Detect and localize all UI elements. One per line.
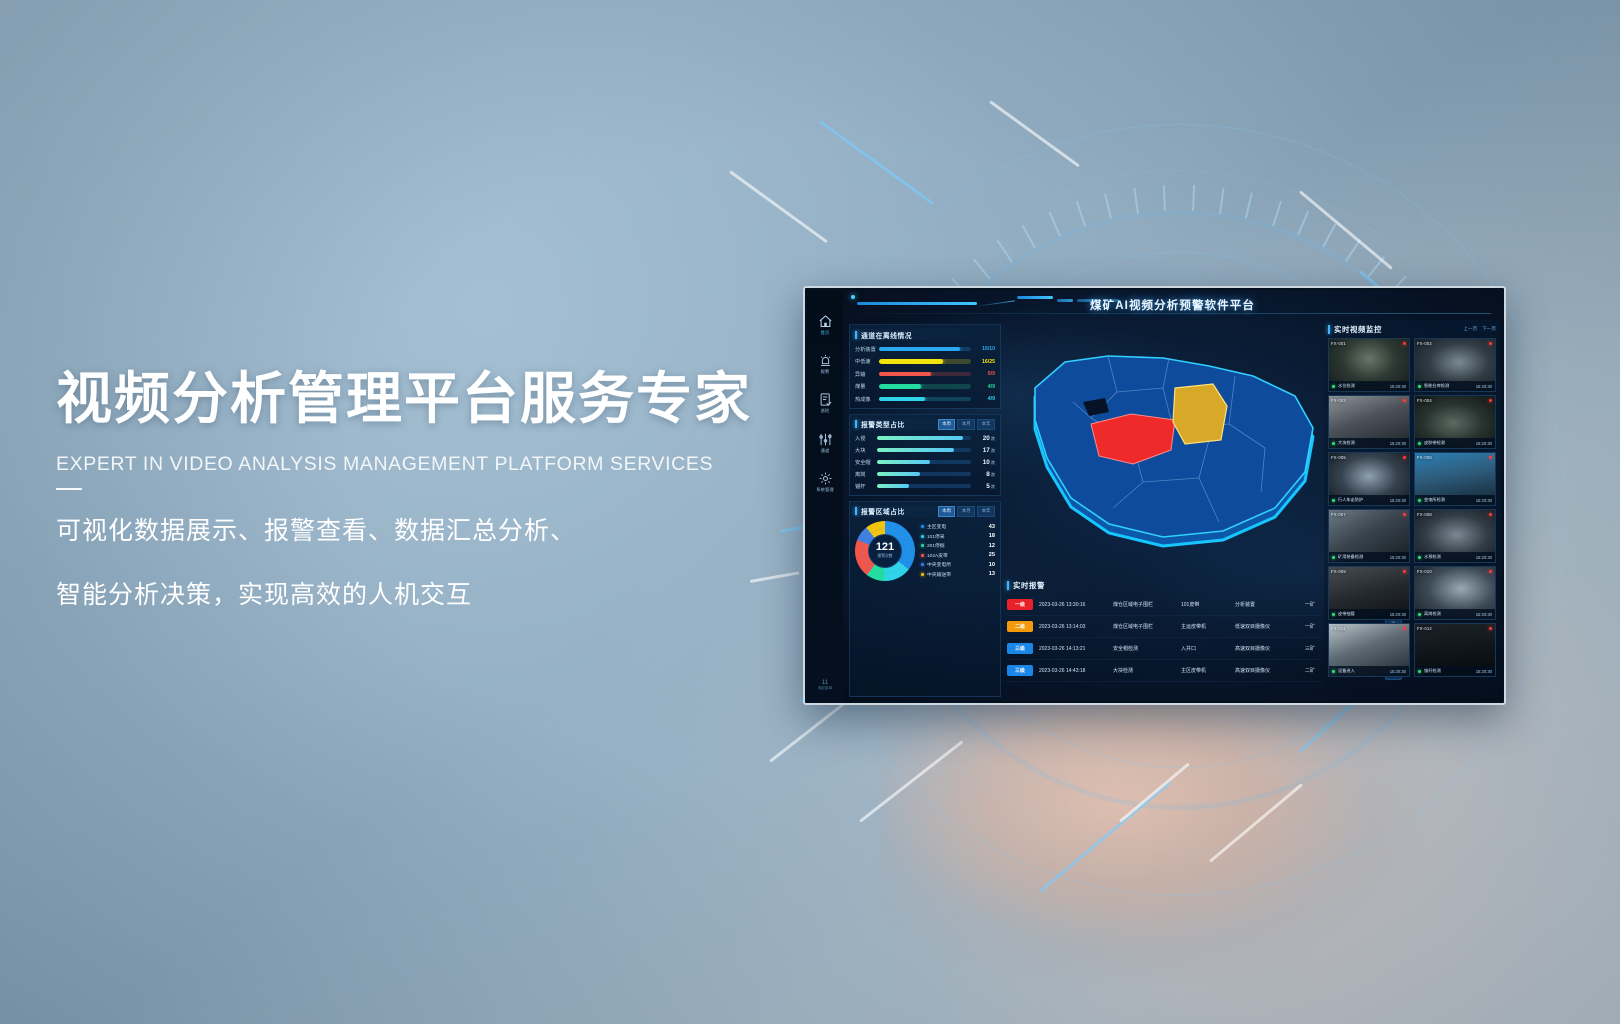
- camera-timestamp: 15:20:30: [1476, 498, 1492, 503]
- legend-color-dot: [921, 563, 924, 566]
- camera-id: FX-006: [1417, 455, 1432, 460]
- dashboard-sidebar: 首页报警巡检通道系统管理11收起菜单: [807, 290, 843, 701]
- video-tile[interactable]: FX-007矿用装备检测15:20:30: [1328, 509, 1410, 563]
- recording-indicator-icon: [1403, 456, 1406, 459]
- alarm-type-tab-本周[interactable]: 本周: [938, 419, 956, 430]
- recording-indicator-icon: [1403, 513, 1406, 516]
- camera-name: 变电所检测: [1424, 497, 1476, 503]
- video-tile[interactable]: FX-001水位检测15:20:30: [1328, 338, 1410, 392]
- alarm-area-tab-本月[interactable]: 本月: [957, 506, 975, 517]
- camera-timestamp: 15:20:30: [1476, 441, 1492, 446]
- sidebar-item-label: 报警: [821, 370, 830, 374]
- video-tile[interactable]: FX-004皮肤带检测15:20:30: [1414, 395, 1496, 449]
- channel-row: 异输5/9: [855, 371, 995, 378]
- table-row[interactable]: 三级2023-03-26 14:43:18大块检测主区皮带机高速双目摄像仪二矿未…: [1007, 660, 1322, 682]
- online-status-icon: [1332, 670, 1335, 673]
- alarm-type: 煤仓区域电子围栏: [1113, 623, 1181, 630]
- accent-bar: [855, 331, 857, 339]
- alarm-area-tab-本年[interactable]: 本年: [977, 506, 995, 517]
- alarm-type-card: 报警类型占比 本周本月本年 入侵20次大块17次安全帽10次离岗8次锚杆5次: [849, 414, 1001, 496]
- alarm-type-fill: [877, 472, 920, 476]
- alarm-type-unit: 次: [991, 484, 995, 489]
- channel-row: 热成像4/9: [855, 396, 995, 403]
- alarm-level-badge: 三级: [1007, 665, 1033, 676]
- map-region-yellow[interactable]: [1173, 384, 1227, 444]
- online-status-icon: [1418, 385, 1421, 388]
- video-monitor-panel: 实时视频监控 上一页 下一页 FX-001水位检测15:20:30FX-002智…: [1324, 320, 1500, 697]
- camera-id: FX-009: [1331, 569, 1346, 574]
- legend-color-dot: [921, 554, 924, 557]
- channel-row-value: 16/25: [971, 359, 995, 365]
- online-status-icon: [1332, 442, 1335, 445]
- online-status-icon: [1332, 499, 1335, 502]
- camera-name: 皮带抽管: [1338, 611, 1390, 617]
- channel-row-value: 10/10: [971, 346, 995, 352]
- legend-value: 43: [989, 524, 995, 530]
- camera-id: FX-008: [1417, 512, 1432, 517]
- header-bar-c: [1057, 299, 1073, 302]
- donut-legend-item: 主区变电43: [921, 523, 995, 530]
- sidebar-item-label: 系统管理: [816, 488, 834, 492]
- donut-center-label: 报警次数: [877, 554, 892, 559]
- alarm-type-value: 20次: [971, 435, 995, 442]
- alarm-type-track: [877, 436, 971, 440]
- legend-color-dot: [921, 544, 924, 547]
- alarm-area-card: 报警区域占比 本周本月本年 121 报警次数 主区变电43101停采18201停…: [849, 501, 1001, 698]
- alarm-location: 主区皮带机: [1181, 667, 1235, 674]
- video-pagination: 上一页 下一页: [1463, 326, 1496, 332]
- sidebar-item-label: 首页: [821, 331, 830, 335]
- alarm-type-track: [877, 472, 971, 476]
- camera-id: FX-005: [1331, 455, 1346, 460]
- alarm-type-track: [877, 484, 971, 488]
- alarm-type-rows: 入侵20次大块17次安全帽10次离岗8次锚杆5次: [855, 435, 995, 490]
- alarm-type-unit: 次: [991, 460, 995, 465]
- alarm-type-value: 10次: [971, 459, 995, 466]
- next-page-button[interactable]: 下一页: [1482, 326, 1496, 332]
- alarm-area-donut-chart: 121 报警次数: [855, 521, 915, 581]
- online-status-icon: [1418, 670, 1421, 673]
- camera-timestamp: 15:20:30: [1390, 669, 1406, 674]
- alarm-type-card-title: 报警类型占比: [861, 419, 905, 429]
- channel-row-fill: [879, 359, 943, 364]
- alarm-time: 2023-03-26 13:14:03: [1039, 624, 1113, 630]
- accent-bar: [1328, 325, 1330, 334]
- alarm-type-row: 离岗8次: [855, 471, 995, 478]
- online-status-icon: [1332, 556, 1335, 559]
- camera-timestamp: 15:20:30: [1476, 384, 1492, 389]
- recording-indicator-icon: [1489, 513, 1492, 516]
- camera-name: 皮肤带检测: [1424, 440, 1476, 446]
- channel-row-label: 煤量: [855, 383, 879, 390]
- accent-bar: [1007, 581, 1009, 590]
- alarm-type: 煤仓区域电子围栏: [1113, 601, 1181, 608]
- header-underline: [851, 313, 1491, 314]
- video-tile[interactable]: FX-003大块检测15:20:30: [1328, 395, 1410, 449]
- legend-value: 13: [989, 571, 995, 577]
- legend-color-dot: [921, 525, 924, 528]
- header-dot: [851, 295, 855, 299]
- inspection-icon: [818, 392, 833, 407]
- donut-legend-item: 中央输送带13: [921, 571, 995, 578]
- channel-row-fill: [879, 384, 921, 389]
- monitor-device: 首页报警巡检通道系统管理11收起菜单 煤矿AI视频分析预警软件平台 通道在离线情…: [803, 286, 1506, 705]
- hero-divider: [56, 488, 82, 490]
- alarm-type-value: 17次: [971, 447, 995, 454]
- online-status-icon: [1418, 613, 1421, 616]
- alarm-type-value: 5次: [971, 483, 995, 490]
- alarm-type-tab-本月[interactable]: 本月: [957, 419, 975, 430]
- channel-row-fill: [879, 347, 960, 352]
- camera-name: 矿用装备检测: [1338, 554, 1390, 560]
- channel-row-label: 异输: [855, 371, 879, 378]
- realtime-alarms-header: 实时报警: [1007, 579, 1322, 591]
- alarm-location: 101皮带: [1181, 601, 1235, 608]
- alarm-type-fill: [877, 448, 954, 452]
- sidebar-item-home[interactable]: 首页: [808, 314, 842, 335]
- legend-label: 中央输送带: [927, 571, 989, 578]
- camera-timestamp: 15:20:30: [1390, 498, 1406, 503]
- online-status-icon: [1418, 499, 1421, 502]
- video-tile-footer: 智能仓库检测15:20:30: [1415, 381, 1495, 391]
- video-grid: FX-001水位检测15:20:30FX-002智能仓库检测15:20:30FX…: [1328, 338, 1496, 677]
- table-row[interactable]: 一级2023-03-26 13:30:16煤仓区域电子围栏101皮带分析装置一矿…: [1007, 594, 1322, 616]
- alarm-type-fill: [877, 460, 930, 464]
- camera-id: FX-012: [1417, 626, 1432, 631]
- channel-row: 中低速16/25: [855, 358, 995, 365]
- legend-value: 12: [989, 543, 995, 549]
- donut-center: 121 报警次数: [868, 534, 902, 568]
- alarm-type-row: 安全帽10次: [855, 459, 995, 466]
- realtime-alarms-title: 实时报警: [1013, 580, 1045, 591]
- camera-name: 水预检测: [1424, 554, 1476, 560]
- realtime-alarms-panel: 实时报警 一级2023-03-26 13:30:16煤仓区域电子围栏101皮带分…: [1007, 579, 1322, 695]
- alarm-type-label: 离岗: [855, 471, 877, 478]
- camera-name: 行人车走防护: [1338, 497, 1390, 503]
- camera-id: FX-010: [1417, 569, 1432, 574]
- header-bar-b: [1017, 296, 1053, 299]
- recording-indicator-icon: [1489, 342, 1492, 345]
- map-and-alarms-area: 实时报警 一级2023-03-26 13:30:16煤仓区域电子围栏101皮带分…: [1003, 320, 1324, 697]
- header-line-a: [977, 300, 1015, 306]
- hero-subtitle: EXPERT IN VIDEO ANALYSIS MANAGEMENT PLAT…: [56, 453, 816, 476]
- camera-timestamp: 15:20:30: [1390, 441, 1406, 446]
- video-tile[interactable]: FX-006变电所检测15:20:30: [1414, 452, 1496, 506]
- channel-row-label: 中低速: [855, 358, 879, 365]
- channel-row-track: [879, 359, 971, 364]
- camera-name: 水位检测: [1338, 383, 1390, 389]
- video-tile-footer: 皮带抽管15:20:30: [1329, 609, 1409, 619]
- recording-indicator-icon: [1403, 627, 1406, 630]
- alarm-area-tab-本周[interactable]: 本周: [938, 506, 956, 517]
- video-tile[interactable]: FX-005行人车走防护15:20:30: [1328, 452, 1410, 506]
- alarm-type-card-header: 报警类型占比 本周本月本年: [855, 419, 995, 430]
- left-panel: 通道在离线情况 分析装置10/10中低速16/25异输5/9煤量4/9热成像4/…: [849, 320, 1001, 697]
- camera-id: FX-002: [1417, 341, 1432, 346]
- alarm-type-row: 入侵20次: [855, 435, 995, 442]
- video-tile-footer: 水预检测15:20:30: [1415, 552, 1495, 562]
- camera-timestamp: 15:20:30: [1476, 612, 1492, 617]
- recording-indicator-icon: [1403, 399, 1406, 402]
- alarm-time: 2023-03-26 13:30:16: [1039, 602, 1113, 608]
- channel-row-label: 热成像: [855, 396, 879, 403]
- recording-indicator-icon: [1403, 342, 1406, 345]
- camera-timestamp: 15:20:30: [1390, 612, 1406, 617]
- camera-name: 大块检测: [1338, 440, 1390, 446]
- sidebar-footer[interactable]: 11收起菜单: [807, 680, 843, 691]
- recording-indicator-icon: [1489, 570, 1492, 573]
- camera-id: FX-007: [1331, 512, 1346, 517]
- hero-description-line1: 可视化数据展示、报警查看、数据汇总分析、: [56, 508, 816, 554]
- accent-bar: [855, 507, 857, 515]
- table-row[interactable]: 三级2023-03-26 14:13:21安全帽检测入井口高速双目摄像仪三矿未处…: [1007, 638, 1322, 660]
- alarm-device: 高速双目摄像仪: [1235, 645, 1305, 652]
- alarm-area-tabs: 本周本月本年: [938, 506, 995, 517]
- sidebar-item-channel[interactable]: 通道: [808, 432, 842, 453]
- alarm-type-label: 安全帽: [855, 459, 877, 466]
- channel-row-value: 4/9: [971, 396, 995, 402]
- alarm-time: 2023-03-26 14:13:21: [1039, 646, 1113, 652]
- video-tile-footer: 水位检测15:20:30: [1329, 381, 1409, 391]
- sidebar-footer-label: 收起菜单: [807, 686, 843, 691]
- recording-indicator-icon: [1489, 456, 1492, 459]
- video-tile[interactable]: FX-011设备进入15:20:30: [1328, 623, 1410, 677]
- dashboard-screen: 首页报警巡检通道系统管理11收起菜单 煤矿AI视频分析预警软件平台 通道在离线情…: [807, 290, 1502, 701]
- sidebar-item-inspection[interactable]: 巡检: [808, 392, 842, 413]
- video-tile[interactable]: FX-012锚杆检测15:20:30: [1414, 623, 1496, 677]
- camera-timestamp: 15:20:30: [1476, 669, 1492, 674]
- realtime-alarms-rows: 一级2023-03-26 13:30:16煤仓区域电子围栏101皮带分析装置一矿…: [1007, 594, 1322, 682]
- camera-name: 设备进入: [1338, 668, 1390, 674]
- alarm-location: 入井口: [1181, 645, 1235, 652]
- alarm-type-value: 8次: [971, 471, 995, 478]
- channel-row-label: 分析装置: [855, 346, 879, 353]
- camera-name: 锚杆检测: [1424, 668, 1476, 674]
- alarm-type: 大块检测: [1113, 667, 1181, 674]
- video-tile-footer: 行人车走防护15:20:30: [1329, 495, 1409, 505]
- video-tile-footer: 皮肤带检测15:20:30: [1415, 438, 1495, 448]
- alarm-device: 低速双目摄像仪: [1235, 623, 1305, 630]
- video-tile-footer: 设备进入15:20:30: [1329, 666, 1409, 676]
- donut-legend-item: 102A皮带25: [921, 552, 995, 559]
- channel-row-value: 5/9: [971, 371, 995, 377]
- video-tile[interactable]: FX-002智能仓库检测15:20:30: [1414, 338, 1496, 392]
- alarm-location: 主运皮带机: [1181, 623, 1235, 630]
- alarm-device: 高速双目摄像仪: [1235, 667, 1305, 674]
- online-status-icon: [1418, 442, 1421, 445]
- alarm-type-label: 锚杆: [855, 483, 877, 490]
- sidebar-item-gear[interactable]: 系统管理: [808, 471, 842, 492]
- page-title: 视频分析管理平台服务专家: [56, 368, 816, 431]
- gear-icon: [818, 471, 833, 486]
- legend-value: 10: [989, 562, 995, 568]
- legend-label: 主区变电: [927, 523, 989, 530]
- camera-id: FX-011: [1331, 626, 1346, 631]
- alarm-type-unit: 次: [991, 448, 995, 453]
- camera-timestamp: 15:20:30: [1390, 384, 1406, 389]
- recording-indicator-icon: [1489, 627, 1492, 630]
- hero-copy: 视频分析管理平台服务专家 EXPERT IN VIDEO ANALYSIS MA…: [56, 368, 816, 618]
- channel-row: 煤量4/9: [855, 383, 995, 390]
- alarm-type-track: [877, 460, 971, 464]
- alarm-type-row: 锚杆5次: [855, 483, 995, 490]
- camera-timestamp: 15:20:30: [1390, 555, 1406, 560]
- accent-bar: [855, 420, 857, 428]
- alarm-type-label: 入侵: [855, 435, 877, 442]
- alarm-type-track: [877, 448, 971, 452]
- legend-label: 201停掘: [927, 542, 989, 549]
- alarm-level-badge: 二级: [1007, 621, 1033, 632]
- channel-row-track: [879, 397, 971, 402]
- video-panel-title: 实时视频监控: [1334, 324, 1382, 335]
- legend-value: 18: [989, 533, 995, 539]
- video-tile-footer: 离岗检测15:20:30: [1415, 609, 1495, 619]
- channel-card-header: 通道在离线情况: [855, 329, 995, 340]
- donut-chart-wrap: 121 报警次数 主区变电43101停采18201停掘12102A皮带25中央变…: [855, 521, 995, 581]
- channel-row: 分析装置10/10: [855, 346, 995, 353]
- channel-icon: [818, 432, 833, 447]
- camera-id: FX-004: [1417, 398, 1432, 403]
- dashboard-title: 煤矿AI视频分析预警软件平台: [1090, 297, 1255, 313]
- alarm-type-tabs: 本周本月本年: [938, 419, 995, 430]
- online-status-icon: [1418, 556, 1421, 559]
- alarm-type-unit: 次: [991, 436, 995, 441]
- online-status-icon: [1332, 385, 1335, 388]
- donut-center-value: 121: [876, 542, 894, 553]
- alarm-type-tab-本年[interactable]: 本年: [977, 419, 995, 430]
- home-icon: [818, 314, 833, 329]
- sidebar-item-label: 巡检: [821, 409, 830, 413]
- alarm-type-label: 大块: [855, 447, 877, 454]
- video-tile[interactable]: FX-010离岗检测15:20:30: [1414, 566, 1496, 620]
- alarm-area-card-title: 报警区域占比: [861, 506, 905, 516]
- legend-color-dot: [921, 535, 924, 538]
- recording-indicator-icon: [1403, 570, 1406, 573]
- camera-timestamp: 15:20:30: [1476, 555, 1492, 560]
- channel-status-card: 通道在离线情况 分析装置10/10中低速16/25异输5/9煤量4/9热成像4/…: [849, 324, 1001, 409]
- channel-card-title: 通道在离线情况: [861, 330, 912, 340]
- video-tile-footer: 矿用装备检测15:20:30: [1329, 552, 1409, 562]
- hero-description-line2: 智能分析决策，实现高效的人机交互: [56, 572, 816, 618]
- donut-legend-item: 201停掘12: [921, 542, 995, 549]
- video-tile-footer: 锚杆检测15:20:30: [1415, 666, 1495, 676]
- channel-row-fill: [879, 372, 931, 377]
- channel-row-track: [879, 347, 971, 352]
- donut-legend-item: 101停采18: [921, 533, 995, 540]
- alarm-type-unit: 次: [991, 472, 995, 477]
- alarm-time: 2023-03-26 14:43:18: [1039, 668, 1113, 674]
- channel-row-fill: [879, 397, 925, 402]
- legend-value: 25: [989, 552, 995, 558]
- camera-name: 智能仓库检测: [1424, 383, 1476, 389]
- video-tile-footer: 大块检测15:20:30: [1329, 438, 1409, 448]
- legend-label: 102A皮带: [927, 552, 989, 559]
- alarm-type: 安全帽检测: [1113, 645, 1181, 652]
- channel-row-track: [879, 384, 971, 389]
- region-map[interactable]: [1013, 332, 1333, 557]
- header-bar-left: [857, 302, 977, 305]
- table-row[interactable]: 二级2023-03-26 13:14:03煤仓区域电子围栏主运皮带机低速双目摄像…: [1007, 616, 1322, 638]
- alarm-type-row: 大块17次: [855, 447, 995, 454]
- prev-page-button[interactable]: 上一页: [1463, 326, 1477, 332]
- alarm-icon: [818, 353, 833, 368]
- camera-id: FX-003: [1331, 398, 1346, 403]
- dashboard-header: 煤矿AI视频分析预警软件平台: [843, 290, 1502, 320]
- legend-color-dot: [921, 573, 924, 576]
- channel-rows: 分析装置10/10中低速16/25异输5/9煤量4/9热成像4/9: [855, 346, 995, 403]
- alarm-area-card-header: 报警区域占比 本周本月本年: [855, 506, 995, 517]
- alarm-level-badge: 一级: [1007, 599, 1033, 610]
- video-tile[interactable]: FX-009皮带抽管15:20:30: [1328, 566, 1410, 620]
- recording-indicator-icon: [1489, 399, 1492, 402]
- alarm-level-badge: 三级: [1007, 643, 1033, 654]
- donut-legend-item: 中央变电所10: [921, 561, 995, 568]
- sidebar-item-alarm[interactable]: 报警: [808, 353, 842, 374]
- alarm-type-fill: [877, 436, 963, 440]
- donut-legend: 主区变电43101停采18201停掘12102A皮带25中央变电所10中央输送带…: [919, 523, 995, 578]
- video-panel-header: 实时视频监控 上一页 下一页: [1328, 323, 1496, 335]
- camera-name: 离岗检测: [1424, 611, 1476, 617]
- alarm-device: 分析装置: [1235, 601, 1305, 608]
- channel-row-value: 4/9: [971, 384, 995, 390]
- camera-id: FX-001: [1331, 341, 1346, 346]
- sidebar-item-label: 通道: [821, 449, 830, 453]
- video-tile[interactable]: FX-008水预检测15:20:30: [1414, 509, 1496, 563]
- online-status-icon: [1332, 613, 1335, 616]
- video-tile-footer: 变电所检测15:20:30: [1415, 495, 1495, 505]
- legend-label: 中央变电所: [927, 561, 989, 568]
- alarm-type-fill: [877, 484, 909, 488]
- channel-row-track: [879, 372, 971, 377]
- legend-label: 101停采: [927, 533, 989, 540]
